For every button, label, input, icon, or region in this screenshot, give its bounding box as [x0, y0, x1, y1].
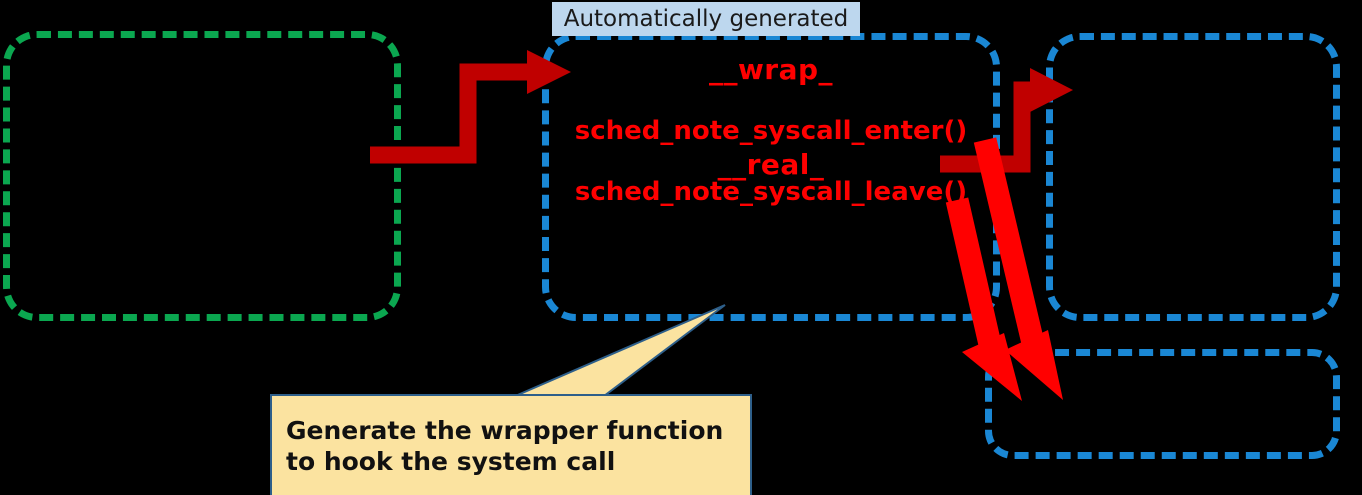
wrap-symbol-label: __wrap_ — [542, 53, 1000, 86]
callout-line-1: Generate the wrapper function — [286, 415, 736, 446]
diagram-canvas: Automatically generated __wrap_ sched_no… — [0, 0, 1362, 495]
callout-line-2: to hook the system call — [286, 446, 736, 477]
call-into-wrapper-arrow — [370, 50, 571, 155]
sched-note-syscall-leave-label: sched_note_syscall_leave() — [542, 177, 1000, 207]
sched-note-syscall-enter-label: sched_note_syscall_enter() — [542, 116, 1000, 146]
callout-text: Generate the wrapper function to hook th… — [286, 415, 736, 477]
automatically-generated-tag: Automatically generated — [552, 2, 860, 36]
